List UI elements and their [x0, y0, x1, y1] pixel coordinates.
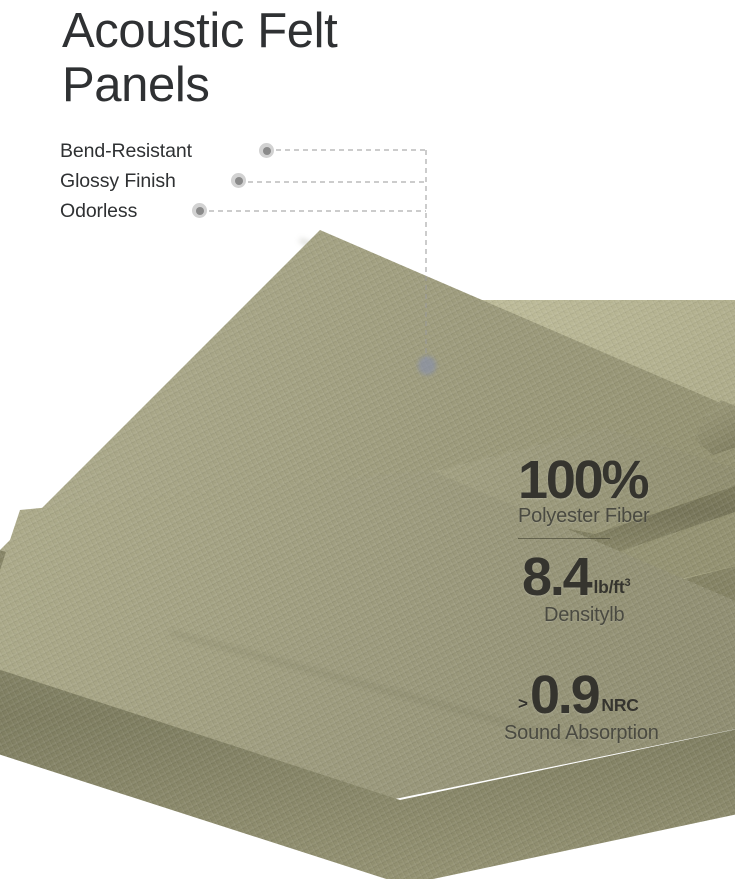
feature-dot-odorless-icon — [192, 203, 207, 218]
spec-polyester-caption: Polyester Fiber — [518, 504, 735, 528]
spec-nrc-value: 0.9 — [530, 667, 598, 723]
spec-density-unit: lb/ft3 — [593, 577, 630, 598]
spec-nrc-greater-than-icon: > — [518, 694, 528, 714]
spec-nrc-value-row: > 0.9 NRC — [518, 667, 735, 723]
spec-density-value-row: 8.4 lb/ft3 — [522, 549, 735, 605]
spec-nrc-unit: NRC — [601, 695, 638, 716]
product-infographic: Acoustic Felt Panels Bend-Resistant Glos… — [0, 0, 735, 879]
title-line-1: Acoustic Felt — [62, 4, 492, 58]
title-line-2: Panels — [62, 58, 492, 112]
callout-endpoint-dot — [418, 356, 436, 375]
spec-sound-absorption: > 0.9 NRC Sound Absorption — [518, 667, 735, 745]
product-photo — [0, 0, 735, 879]
feature-item-bend-resistant: Bend-Resistant — [60, 136, 460, 166]
spec-density-value: 8.4 — [522, 549, 590, 605]
spec-polyester-fiber: 100% Polyester Fiber — [518, 452, 735, 528]
feature-label-glossy-finish: Glossy Finish — [60, 166, 176, 196]
feature-label-bend-resistant: Bend-Resistant — [60, 136, 192, 166]
specification-callouts: 100% Polyester Fiber 8.4 lb/ft3 Densityl… — [500, 452, 735, 745]
feature-dot-glossy-finish-icon — [231, 173, 246, 188]
feature-item-glossy-finish: Glossy Finish — [60, 166, 460, 196]
feature-item-odorless: Odorless — [60, 196, 460, 226]
feature-list: Bend-Resistant Glossy Finish Odorless — [60, 136, 460, 226]
spec-density: 8.4 lb/ft3 Densitylb — [522, 549, 735, 627]
spec-polyester-value: 100% — [518, 452, 647, 508]
feature-label-odorless: Odorless — [60, 196, 137, 226]
page-title: Acoustic Felt Panels — [62, 4, 492, 112]
spec-nrc-caption: Sound Absorption — [504, 721, 735, 745]
spec-density-caption: Densitylb — [544, 603, 735, 627]
feature-dot-bend-resistant-icon — [259, 143, 274, 158]
spec-divider-1 — [518, 538, 610, 539]
spec-polyester-value-row: 100% — [518, 452, 735, 508]
